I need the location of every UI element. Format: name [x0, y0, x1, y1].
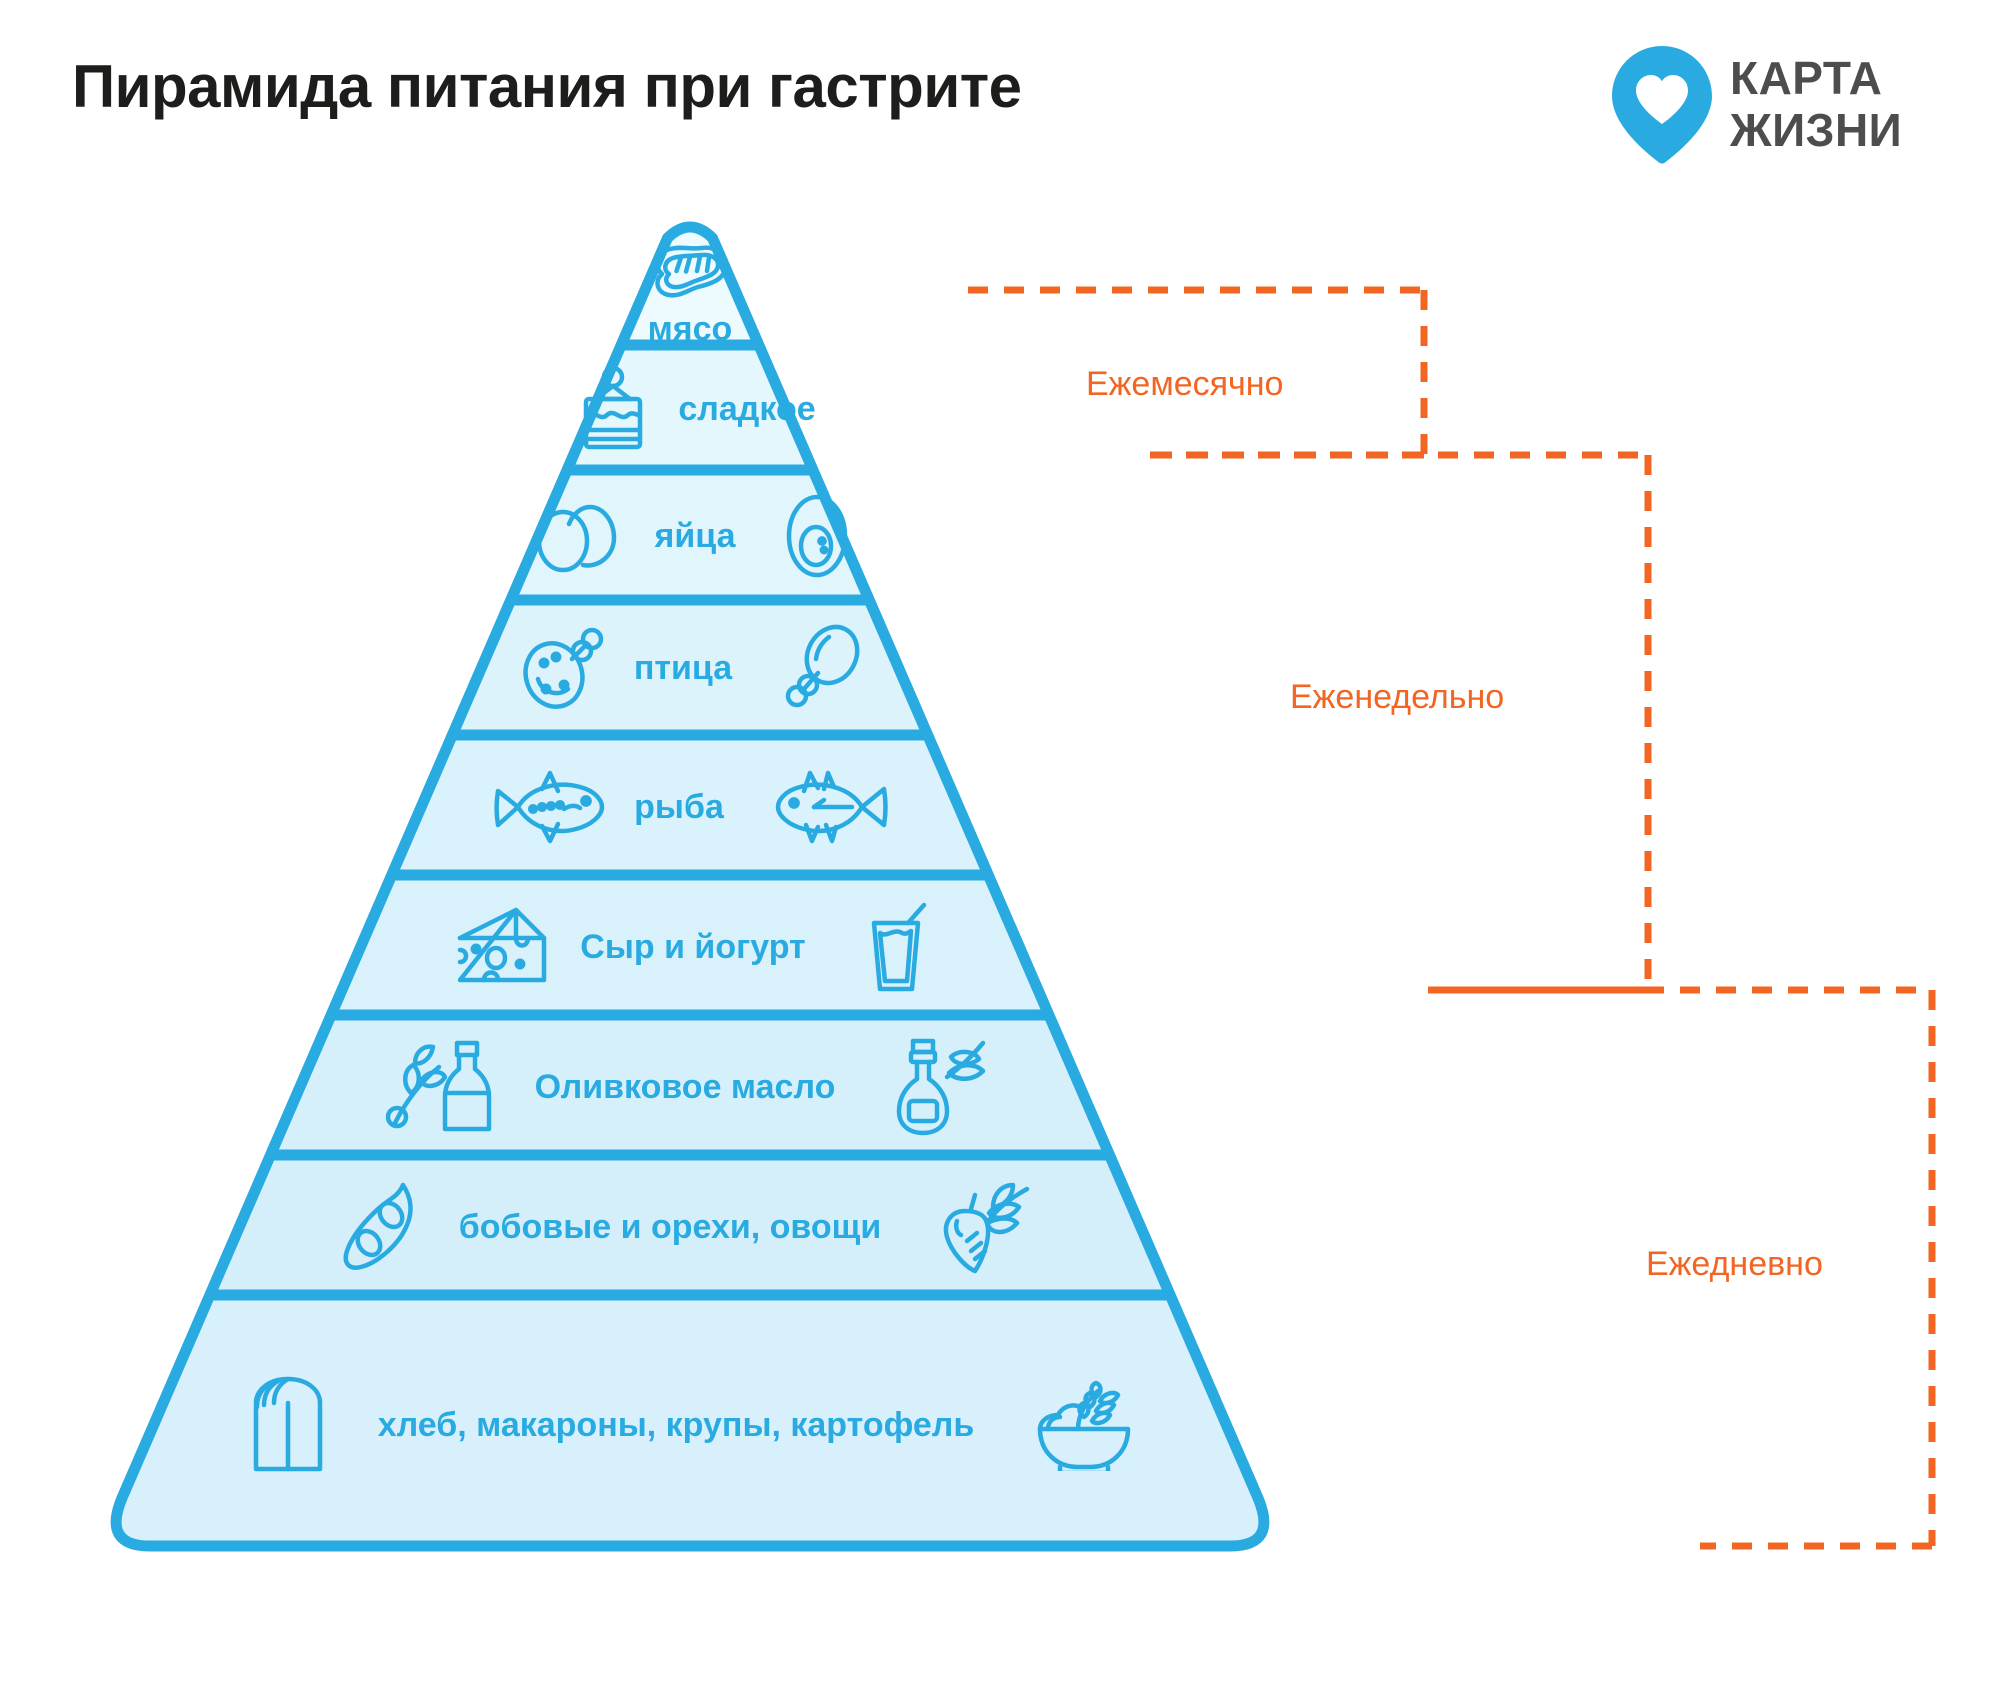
pyramid-tier-9[interactable]: хлеб, макароны, крупы, картофель	[140, 1300, 1240, 1550]
fish-alt-icon	[774, 767, 892, 847]
pyramid-tier-6-label: Сыр и йогурт	[580, 928, 805, 967]
eggs-icon	[531, 499, 629, 573]
oil-flask-icon	[889, 1037, 997, 1137]
pyramid-tier-9-label: хлеб, макароны, крупы, картофель	[378, 1406, 975, 1445]
frequency-label-daily: Ежедневно	[1646, 1245, 1823, 1284]
chicken-leg-icon	[516, 625, 608, 711]
fish-icon	[488, 765, 608, 849]
pyramid-tier-2[interactable]: сладкое	[500, 350, 890, 468]
bread-loaf-icon	[242, 1373, 338, 1477]
pyramid-tier-4[interactable]: птица	[370, 608, 1010, 728]
map-pin-heart-icon	[1612, 46, 1712, 164]
page-header: Пирамида питания при гастрите КАРТА ЖИЗН…	[0, 0, 2000, 200]
yogurt-glass-icon	[862, 901, 930, 993]
pyramid-tier-6[interactable]: Сыр и йогурт	[280, 882, 1100, 1012]
pyramid-tier-7-label: Оливковое масло	[535, 1068, 836, 1107]
pyramid-tier-1[interactable]: мясо	[550, 240, 830, 345]
brand-logo: КАРТА ЖИЗНИ	[1612, 46, 1972, 164]
pyramid-tier-5-label: рыба	[634, 788, 724, 827]
pyramid-tier-8-label: бобовые и орехи, овощи	[459, 1208, 881, 1247]
pyramid-tier-4-label: птица	[634, 649, 732, 688]
pyramid-tier-2-label: сладкое	[678, 390, 815, 429]
food-pyramid: мясо сладкое	[80, 210, 1300, 1570]
pyramid-tier-3[interactable]: яйца	[410, 476, 970, 596]
drumstick-icon	[782, 623, 864, 713]
cake-slice-icon	[574, 366, 652, 452]
brand-logo-line1: КАРТА	[1730, 52, 1902, 104]
pyramid-tier-7[interactable]: Оливковое масло	[240, 1022, 1140, 1152]
steak-icon	[648, 236, 732, 306]
fried-egg-icon	[785, 494, 849, 578]
bean-pod-icon	[341, 1177, 433, 1277]
cheese-icon	[450, 904, 554, 990]
pyramid-tier-3-label: яйца	[655, 517, 736, 556]
olive-branch-bottle-icon	[383, 1037, 509, 1137]
frequency-label-weekly: Еженедельно	[1290, 678, 1504, 717]
brand-logo-text: КАРТА ЖИЗНИ	[1730, 52, 1902, 156]
pyramid-tier-8[interactable]: бобовые и орехи, овощи	[190, 1162, 1190, 1292]
page-title: Пирамида питания при гастрите	[72, 52, 1021, 121]
pyramid-tier-1-label: мясо	[648, 310, 733, 349]
brand-logo-line2: ЖИЗНИ	[1730, 104, 1902, 156]
pyramid-tier-5[interactable]: рыба	[330, 742, 1050, 872]
beet-vegetable-icon	[935, 1179, 1039, 1275]
frequency-label-monthly: Ежемесячно	[1086, 365, 1283, 404]
grain-bowl-icon	[1034, 1379, 1138, 1471]
pyramid-tier-labels: мясо сладкое	[80, 210, 1300, 1570]
